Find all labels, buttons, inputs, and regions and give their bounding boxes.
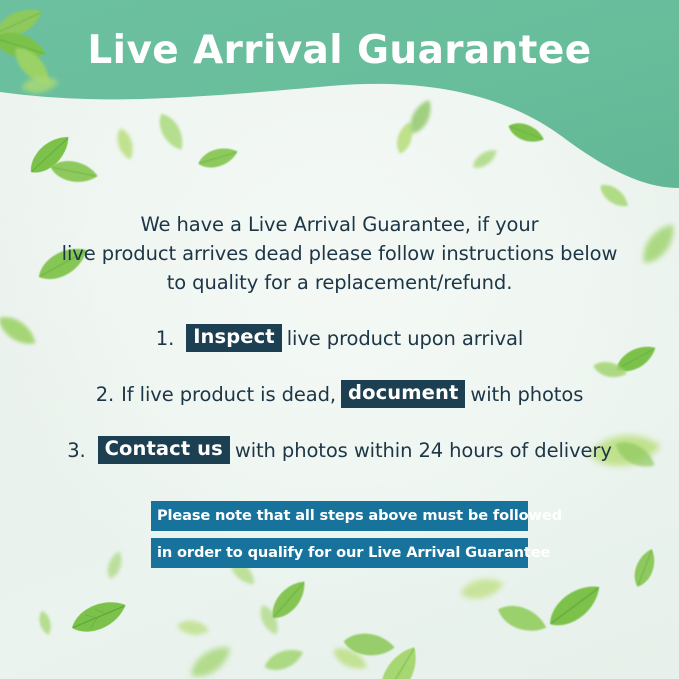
- steps-list: 1. Inspect live product upon arrival 2. …: [30, 318, 649, 486]
- step-text-after: with photos: [470, 383, 583, 406]
- step-text-after: with photos within 24 hours of delivery: [235, 439, 612, 462]
- note-line-1: Please note that all steps above must be…: [151, 501, 528, 531]
- intro-line-3: to quality for a replacement/refund.: [60, 268, 619, 297]
- step-item-2: 2. If live product is dead, document wit…: [30, 374, 649, 414]
- step-number: 1.: [156, 327, 174, 350]
- step-text-before: If live product is dead,: [121, 383, 336, 406]
- step-item-3: 3. Contact us with photos within 24 hour…: [30, 430, 649, 470]
- step-highlight-inspect: Inspect: [186, 324, 282, 352]
- note-line-2: in order to qualify for our Live Arrival…: [151, 538, 528, 568]
- step-number: 2.: [96, 383, 114, 406]
- step-highlight-document: document: [341, 380, 465, 408]
- content-area: We have a Live Arrival Guarantee, if you…: [0, 0, 679, 679]
- step-number: 3.: [67, 439, 85, 462]
- live-arrival-guarantee-poster: Live Arrival Guarantee: [0, 0, 679, 679]
- step-highlight-contact-us: Contact us: [98, 436, 230, 464]
- step-text-after: live product upon arrival: [287, 327, 523, 350]
- intro-line-1: We have a Live Arrival Guarantee, if you…: [60, 210, 619, 239]
- intro-line-2: live product arrives dead please follow …: [60, 239, 619, 268]
- step-item-1: 1. Inspect live product upon arrival: [30, 318, 649, 358]
- intro-paragraph: We have a Live Arrival Guarantee, if you…: [60, 210, 619, 297]
- note-banner: Please note that all steps above must be…: [151, 501, 528, 568]
